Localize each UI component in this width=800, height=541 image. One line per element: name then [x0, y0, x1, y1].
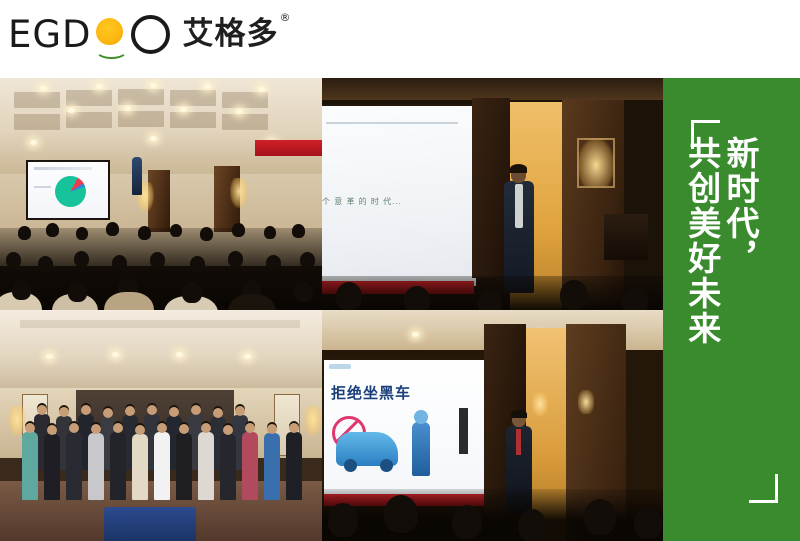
photo-content: 拒绝坐黑车 — [322, 310, 663, 541]
poster-page: EGD 艾格多 ® — [0, 0, 800, 541]
logo-latin-text: EGD — [8, 16, 92, 53]
audience-row-front — [322, 489, 663, 541]
cartoon-illustration — [332, 404, 452, 484]
photo-conference-pie-chart[interactable] — [0, 78, 322, 310]
quote-bracket-close-icon — [749, 474, 778, 503]
page-header: EGD 艾格多 ® — [0, 0, 800, 78]
wall-sconce-icon — [532, 392, 548, 416]
slide-title: 拒绝坐黑车 — [331, 382, 411, 403]
speaker-figure — [504, 166, 534, 292]
photo-collage: 个 意 革 的 时 代... — [0, 78, 663, 541]
slide-logo-icon — [329, 364, 351, 369]
logo-mark: EGD — [8, 11, 170, 57]
registered-trademark-icon: ® — [280, 11, 291, 24]
smile-arc-icon — [95, 41, 128, 59]
wall-sconce-icon — [230, 178, 248, 208]
ring-icon — [131, 15, 170, 54]
wheel-icon — [380, 459, 393, 472]
photo-safety-slide[interactable]: 拒绝坐黑车 — [322, 310, 663, 541]
foreground-table — [104, 507, 196, 541]
slide-side-caption — [459, 408, 468, 454]
slide-rule — [326, 122, 458, 124]
officer-figure — [412, 422, 430, 476]
wall-sconce-icon — [304, 406, 322, 436]
presentation-screen — [28, 162, 108, 218]
slide-title-bar — [34, 167, 92, 170]
wall-sconce-icon — [578, 390, 594, 414]
photo-group-portrait[interactable] — [0, 310, 322, 541]
officer-head — [414, 410, 428, 424]
wall-sconce-icon — [8, 406, 26, 436]
wall-sconce-icon — [577, 138, 615, 188]
presentation-screen: 个 意 革 的 时 代... — [322, 106, 476, 286]
pie-chart-icon — [55, 176, 86, 207]
slogan-text: 新时代， 共创美好未来 — [713, 136, 759, 346]
slogan-panel: 新时代， 共创美好未来 — [663, 78, 800, 541]
audience-row-front — [322, 276, 663, 310]
slogan-inner: 新时代， 共创美好未来 — [663, 78, 800, 541]
ceiling — [322, 78, 663, 100]
logo-chinese-text: 艾格多 — [183, 19, 279, 50]
ceiling — [0, 310, 322, 388]
sun-icon — [93, 11, 127, 57]
wheel-icon — [344, 459, 357, 472]
stage-banner — [255, 140, 322, 156]
photo-content: 个 意 革 的 时 代... — [322, 78, 663, 310]
photo-content — [0, 78, 322, 310]
photo-speaker-stage[interactable]: 个 意 革 的 时 代... — [322, 78, 663, 310]
brand-logo[interactable]: EGD 艾格多 ® — [8, 8, 291, 60]
presentation-screen: 拒绝坐黑车 — [324, 360, 484, 494]
stage-presenter — [132, 157, 142, 195]
slide-text: 个 意 革 的 时 代... — [322, 196, 402, 207]
ceiling — [0, 78, 322, 174]
slide-legend — [34, 186, 51, 188]
podium — [604, 214, 648, 260]
photo-content — [0, 310, 322, 541]
